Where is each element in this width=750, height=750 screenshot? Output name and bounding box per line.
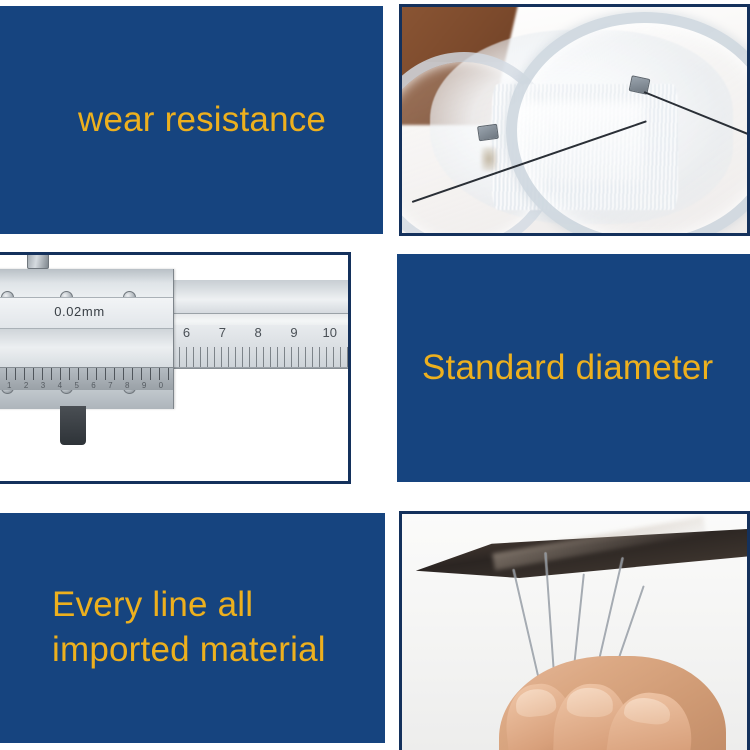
caliper-scale-number: 8 [255, 325, 262, 340]
caption-wear-resistance: wear resistance [0, 98, 326, 143]
caliper-precision-label: 0.02mm [18, 304, 141, 319]
spool-clip-left [477, 123, 499, 141]
fingernail-2 [566, 688, 613, 718]
caliper-vernier-number: 6 [91, 381, 95, 390]
tweezers-icon [402, 514, 747, 750]
spool-residue [481, 147, 497, 171]
feature-panel-standard-diameter: Standard diameter [397, 254, 750, 482]
caliper-label-band: 0.02mm [0, 297, 173, 330]
caliper-vernier-number: 2 [24, 381, 28, 390]
caption-standard-diameter: Standard diameter [397, 346, 713, 391]
caliper-scale-number: 10 [323, 325, 337, 340]
caliper-vernier-number: 9 [142, 381, 146, 390]
spool-icon [402, 7, 747, 233]
caliper-vernier-number: 4 [58, 381, 62, 390]
caliper-vernier-number: 8 [125, 381, 129, 390]
caliper-scale-number: 9 [290, 325, 297, 340]
caliper-jaw-tip [60, 406, 86, 445]
filament-1 [512, 569, 542, 689]
caliper-scale-number: 6 [183, 325, 190, 340]
caliper-vernier-numbers: 1234567890 [0, 380, 173, 390]
fingernail-3 [622, 696, 671, 728]
photo-panel-spool: Clear plastic spool of fishing line on a… [399, 4, 750, 236]
caliper-vernier-number: 5 [74, 381, 78, 390]
caliper-vernier-number: 3 [41, 381, 45, 390]
caliper-vernier-number: 7 [108, 381, 112, 390]
product-feature-infographic: wear resistance Clear plastic spool of f… [0, 0, 750, 750]
caliper-scale-number: 7 [219, 325, 226, 340]
photo-panel-caliper: 12345678910 0.02mm [0, 252, 351, 484]
feature-panel-imported-material: Every line all imported material [0, 513, 385, 743]
caliper-vernier-number: 1 [7, 381, 11, 390]
fingernail-1 [514, 687, 557, 718]
caliper-icon: 12345678910 0.02mm [0, 255, 348, 481]
caliper-vernier-scale: 1234567890 [0, 367, 173, 390]
caliper-vernier-number: 0 [159, 381, 163, 390]
photo-panel-tweezer: A hand pinching several transparent fish… [399, 511, 750, 750]
caliper-assembly: 12345678910 0.02mm [0, 269, 348, 409]
caption-imported-material: Every line all imported material [0, 583, 326, 673]
feature-panel-wear-resistance: wear resistance [0, 6, 383, 234]
caliper-vernier-ticks [0, 368, 173, 380]
caliper-thumb-wheel [27, 255, 49, 269]
